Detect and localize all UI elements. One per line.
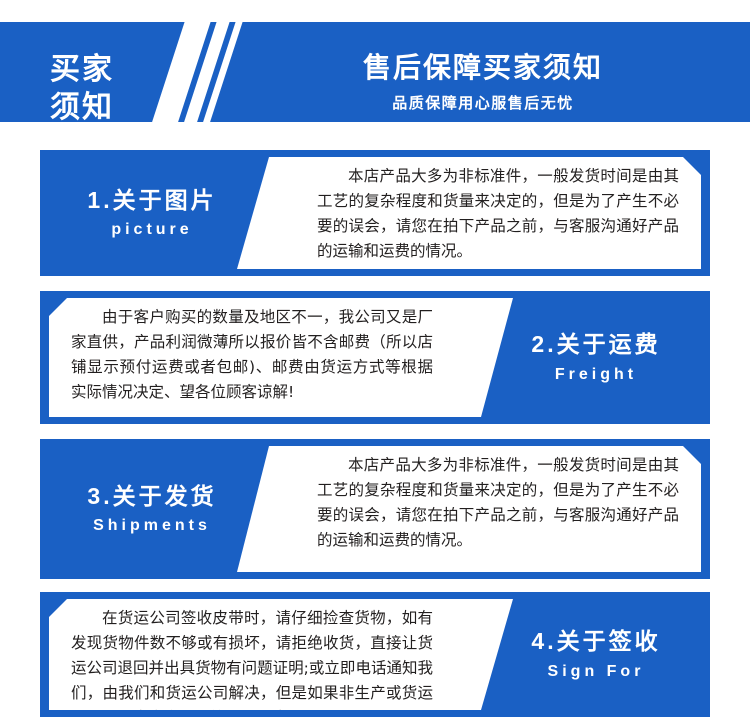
section-4-label-cn: 4.关于签收	[531, 628, 660, 656]
notice-section-3: 3.关于发货 Shipments 本店产品大多为非标准件，一般发货时间是由其工艺…	[40, 439, 710, 579]
banner-badge: 买家 须知	[50, 51, 162, 122]
section-3-label: 3.关于发货 Shipments	[44, 439, 260, 579]
section-1-body-text: 本店产品大多为非标准件，一般发货时间是由其工艺的复杂程度和货量来决定的，但是为了…	[317, 164, 679, 264]
section-3-body-panel: 本店产品大多为非标准件，一般发货时间是由其工艺的复杂程度和货量来决定的，但是为了…	[237, 446, 701, 572]
section-3-body-text: 本店产品大多为非标准件，一般发货时间是由其工艺的复杂程度和货量来决定的，但是为了…	[317, 453, 679, 553]
section-1-label: 1.关于图片 picture	[44, 150, 260, 276]
banner-badge-line-2: 须知	[50, 89, 162, 122]
section-2-body-text: 由于客户购买的数量及地区不一，我公司又是厂家直供，产品利润微薄所以报价皆不含邮费…	[71, 305, 433, 405]
buyer-notice-page: 买家 须知 售后保障买家须知 品质保障用心服售后无忧 1.关于图片 pictur…	[0, 0, 750, 726]
header-banner: 买家 须知 售后保障买家须知 品质保障用心服售后无忧	[0, 22, 750, 122]
section-4-body-text: 在货运公司签收皮带时，请仔细捡查货物，如有发现货物件数不够或有损坏，请拒绝收货，…	[71, 606, 433, 726]
section-3-label-en: Shipments	[93, 516, 211, 535]
section-2-label-cn: 2.关于运费	[531, 331, 660, 359]
banner-heading-group: 售后保障买家须知 品质保障用心服售后无忧	[248, 50, 718, 113]
notice-section-2: 2.关于运费 Freight 由于客户购买的数量及地区不一，我公司又是厂家直供，…	[40, 291, 710, 424]
section-2-body-panel: 由于客户购买的数量及地区不一，我公司又是厂家直供，产品利润微薄所以报价皆不含邮费…	[49, 298, 513, 417]
section-1-body-panel: 本店产品大多为非标准件，一般发货时间是由其工艺的复杂程度和货量来决定的，但是为了…	[237, 157, 701, 269]
notice-section-1: 1.关于图片 picture 本店产品大多为非标准件，一般发货时间是由其工艺的复…	[40, 150, 710, 276]
section-1-label-en: picture	[111, 220, 192, 239]
page-title: 售后保障买家须知	[248, 50, 718, 85]
section-3-label-cn: 3.关于发货	[87, 483, 216, 511]
section-4-label: 4.关于签收 Sign For	[490, 592, 702, 717]
section-4-body-panel: 在货运公司签收皮带时，请仔细捡查货物，如有发现货物件数不够或有损坏，请拒绝收货，…	[49, 599, 513, 710]
section-4-label-en: Sign For	[548, 662, 645, 681]
page-subtitle: 品质保障用心服售后无忧	[248, 92, 718, 113]
section-2-label: 2.关于运费 Freight	[490, 291, 702, 424]
notice-section-4: 4.关于签收 Sign For 在货运公司签收皮带时，请仔细捡查货物，如有发现货…	[40, 592, 710, 717]
section-1-label-cn: 1.关于图片	[87, 187, 216, 215]
section-2-label-en: Freight	[555, 365, 637, 384]
banner-badge-line-1: 买家	[50, 51, 162, 89]
